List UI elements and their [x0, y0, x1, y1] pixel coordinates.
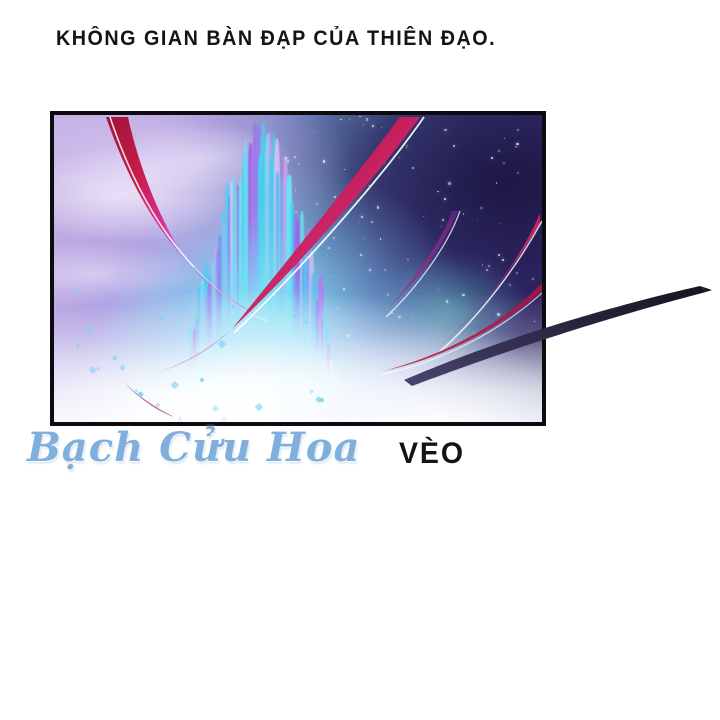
- panel-artwork: [54, 115, 542, 422]
- chibi-fox-girl-watermark: [142, 413, 262, 422]
- studio-watermark: Bạch Cửu Hoa: [27, 424, 277, 472]
- comic-panel: [50, 111, 546, 426]
- ribbon-streaks: [54, 115, 542, 422]
- narration-caption: KHÔNG GIAN BÀN ĐẠP CỦA THIÊN ĐẠO.: [56, 26, 639, 52]
- sfx-veo-text: VÈO: [399, 437, 465, 471]
